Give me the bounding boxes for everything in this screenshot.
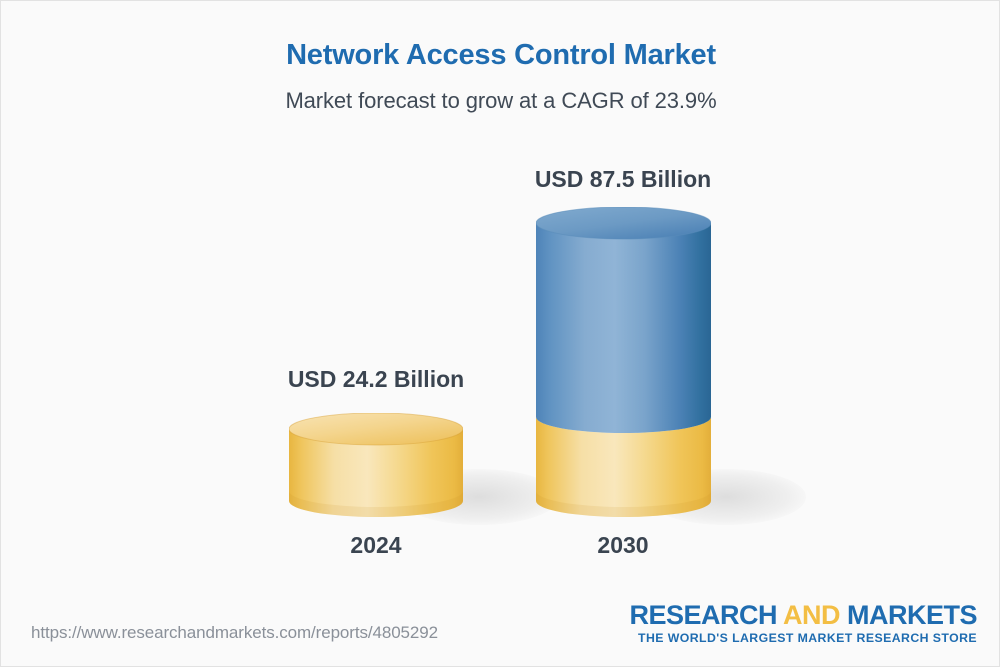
chart-canvas: Network Access Control Market Market for… xyxy=(0,0,1000,667)
bar-category-label-2030: 2030 xyxy=(523,532,723,559)
source-url[interactable]: https://www.researchandmarkets.com/repor… xyxy=(31,623,438,643)
bar-value-label-2024: USD 24.2 Billion xyxy=(276,366,476,393)
chart-plot-area: USD 87.5 Billion USD 24.2 Billion 2024 2… xyxy=(1,1,1000,667)
bar-value-label-2030: USD 87.5 Billion xyxy=(523,166,723,193)
brand-word-markets: MARKETS xyxy=(847,600,977,630)
brand-word-and: AND xyxy=(783,600,847,630)
brand-wordmark: RESEARCH AND MARKETS xyxy=(629,601,977,629)
bar-category-label-2024: 2024 xyxy=(276,532,476,559)
bar-cylinder-2024[interactable] xyxy=(289,413,463,517)
brand-word-research: RESEARCH xyxy=(629,600,783,630)
bar-cylinder-2030[interactable] xyxy=(536,207,711,517)
brand-logo: RESEARCH AND MARKETS THE WORLD'S LARGEST… xyxy=(629,601,977,645)
brand-tagline: THE WORLD'S LARGEST MARKET RESEARCH STOR… xyxy=(629,631,977,645)
